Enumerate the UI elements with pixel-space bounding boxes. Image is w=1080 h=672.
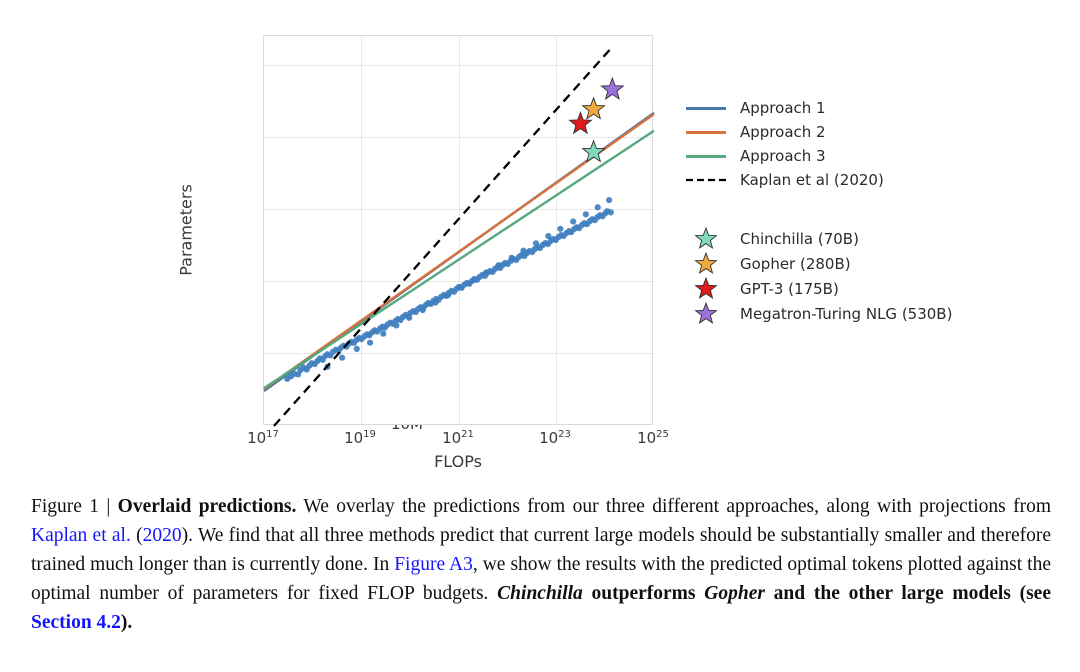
star-icon [686,302,726,326]
legend-item-kaplan[interactable]: Kaplan et al (2020) [686,168,884,192]
highlight-star-marker [601,78,623,99]
x-tick-1e19: 1019 [344,429,376,447]
dashed-line-swatch-icon [686,171,726,189]
highlight-markers-layer [570,78,624,161]
scatter-point [520,248,526,254]
star-icon [686,252,726,276]
legend-label: Megatron-Turing NLG (530B) [740,305,952,323]
legend-item-approach-1[interactable]: Approach 1 [686,96,884,120]
caption-link-2020[interactable]: 2020 [143,525,182,546]
scatter-point [570,218,576,224]
caption-bold-title: Overlaid predictions. [118,496,297,517]
scatter-point [608,209,614,215]
legend-label: Kaplan et al (2020) [740,171,884,189]
x-tick-1e25: 1025 [637,429,669,447]
scatter-point [432,299,438,305]
caption-bold-2: and the other large models (see [765,583,1051,604]
legend-label: Approach 2 [740,123,826,141]
scatter-point [367,340,373,346]
plot-area [263,35,653,425]
scatter-point [496,262,502,268]
legend-item-approach-2[interactable]: Approach 2 [686,120,884,144]
scatter-point [606,197,612,203]
scatter-point [339,355,345,361]
scatter-point [483,269,489,275]
caption-link-kaplan[interactable]: Kaplan et al. [31,525,131,546]
caption-text-2: ( [131,525,143,546]
trend-line [264,131,654,388]
scatter-point [471,277,477,283]
caption-bold-3: ). [121,612,132,633]
legend-label: Approach 3 [740,147,826,165]
legend-label: Approach 1 [740,99,826,117]
scatter-point [354,346,360,352]
legend-item-gopher[interactable]: Gopher (280B) [686,251,952,276]
legend-label: Gopher (280B) [740,255,851,273]
scatter-point [458,284,464,290]
x-axis-title: FLOPs [434,452,482,471]
legend-label: Chinchilla (70B) [740,230,859,248]
scatter-points-layer [284,197,614,382]
plot-canvas [264,36,654,426]
scatter-point [545,233,551,239]
scatter-point [595,204,601,210]
legend-label: GPT-3 (175B) [740,280,839,298]
caption-gopher: Gopher [704,583,765,604]
scatter-point [533,240,539,246]
figure-1: Parameters 1T 100B 10B 1.0B 100M 10M 101… [0,0,1080,480]
y-axis-title: Parameters [177,184,196,276]
highlight-star-marker [583,141,605,162]
scatter-point [583,211,589,217]
scatter-point [393,322,399,328]
x-tick-1e21: 1021 [442,429,474,447]
caption-figure-label: Figure 1 | [31,496,118,517]
scatter-point [406,315,412,321]
x-tick-1e17: 1017 [247,429,279,447]
caption-chinchilla: Chinchilla [497,583,583,604]
legend-item-approach-3[interactable]: Approach 3 [686,144,884,168]
legend-lines: Approach 1 Approach 2 Approach 3 Kaplan … [686,96,884,192]
legend-item-gpt3[interactable]: GPT-3 (175B) [686,276,952,301]
line-swatch-icon [686,147,726,165]
highlight-star-marker [583,98,605,119]
legend-markers: Chinchilla (70B) Gopher (280B) GPT-3 (17… [686,226,952,326]
caption-link-figure-a3[interactable]: Figure A3 [394,554,473,575]
scatter-point [445,292,451,298]
x-tick-1e23: 1023 [539,429,571,447]
line-swatch-icon [686,123,726,141]
scatter-point [509,255,515,261]
caption-link-section-42[interactable]: Section 4.2 [31,612,121,633]
star-icon [686,227,726,251]
star-icon [686,277,726,301]
scatter-point [380,331,386,337]
legend-item-megatron[interactable]: Megatron-Turing NLG (530B) [686,301,952,326]
caption-text-1: We overlay the predictions from our thre… [296,496,1051,517]
scatter-point [557,226,563,232]
legend-item-chinchilla[interactable]: Chinchilla (70B) [686,226,952,251]
line-swatch-icon [686,99,726,117]
scatter-point [420,307,426,313]
figure-caption: Figure 1 | Overlaid predictions. We over… [31,492,1051,637]
caption-bold-1: outperforms [583,583,704,604]
